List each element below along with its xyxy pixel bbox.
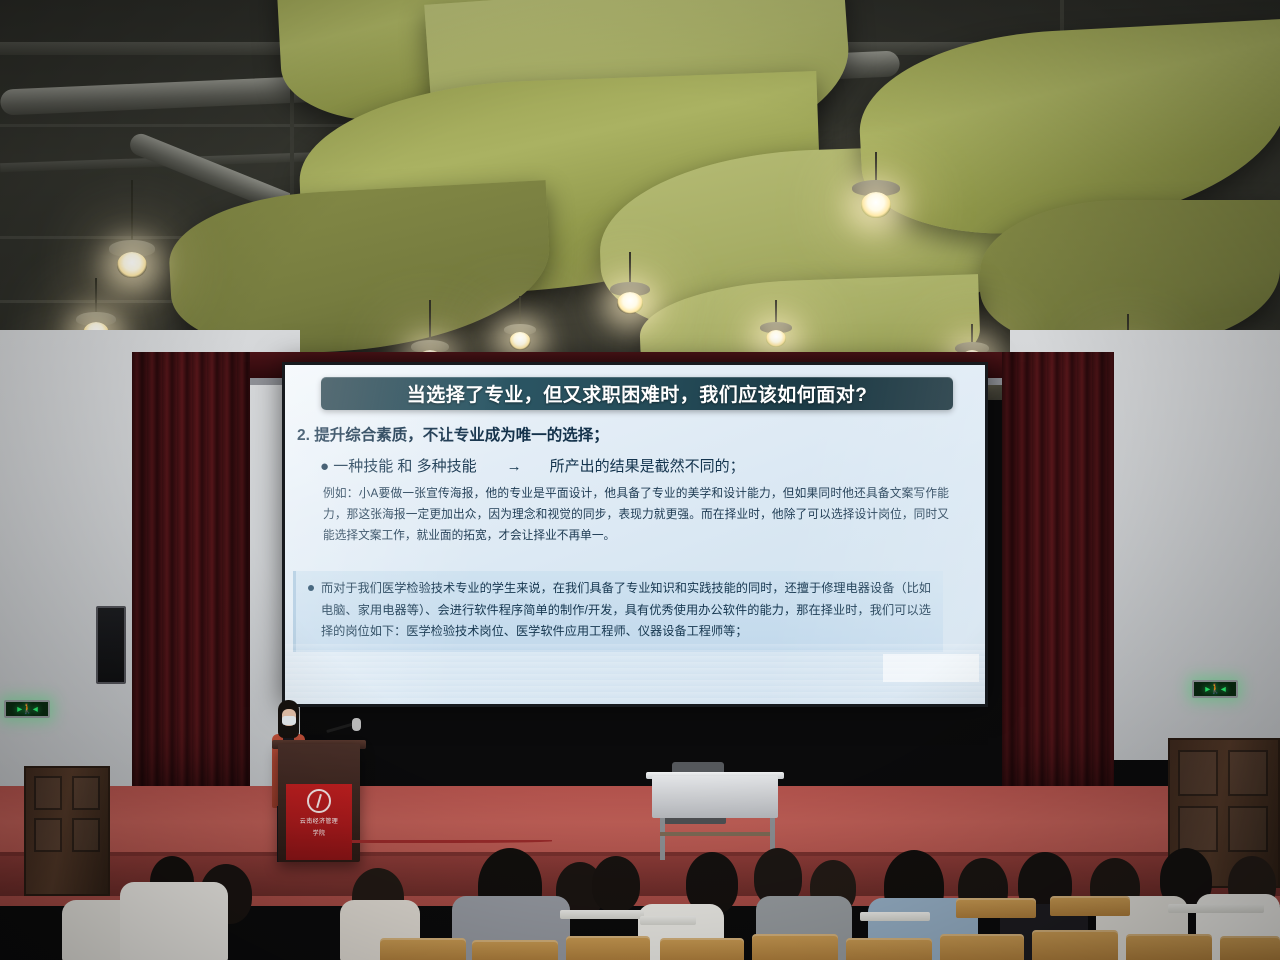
audience [0,838,1280,960]
auditorium-seat[interactable] [472,940,558,960]
auditorium-seat[interactable] [1032,930,1118,960]
auditorium-seat[interactable] [846,938,932,960]
exit-sign-right-icon: ▸🚶◂ [1192,680,1238,698]
audience-member [120,882,228,960]
projection-screen: 当选择了专业，但又求职困难时，我们应该如何面对? 2. 提升综合素质，不让专业成… [282,362,988,707]
auditorium-seat[interactable] [566,936,650,960]
audience-desk [640,916,696,925]
podium-banner-line2: 学院 [313,828,326,837]
exit-glyph-left: ▸🚶◂ [17,704,37,715]
bullet-dot-icon [308,585,314,591]
projector-scanlines [285,644,985,704]
podium-banner-line1: 云南经济管理 [300,816,338,825]
stage-curtain-right [1002,352,1114,822]
slide-heading: 2. 提升综合素质，不让专业成为唯一的选择； [297,423,609,445]
audience-desk [1168,904,1264,913]
slide-highlight-paragraph: 而对于我们医学检验技术专业的学生来说，在我们具备了专业知识和实践技能的同时，还擅… [321,578,931,643]
face-mask-icon [282,716,296,725]
slide-title: 当选择了专业，但又求职困难时，我们应该如何面对? [407,380,868,407]
exit-sign-left-icon: ▸🚶◂ [4,700,50,718]
exit-glyph-right: ▸🚶◂ [1205,684,1225,695]
bullet-one-right: 所产出的结果是截然不同的； [550,458,745,475]
bullet-one-arrow: → [507,458,522,475]
school-seal-icon [307,789,331,813]
audience-desk [560,910,644,919]
auditorium-seat[interactable] [1126,934,1212,960]
bullet-one-left: 一种技能 和 多种技能 [333,458,476,475]
audience-member [592,856,640,912]
slide-bullet-one: ● 一种技能 和 多种技能→所产出的结果是截然不同的； [320,455,745,476]
slide-example-paragraph: 例如：小A要做一张宣传海报，他的专业是平面设计，他具备了专业的美学和设计能力，但… [323,483,949,546]
presentation-slide: 当选择了专业，但又求职困难时，我们应该如何面对? 2. 提升综合素质，不让专业成… [285,365,985,704]
auditorium-seat[interactable] [660,938,744,960]
slide-highlight-box: 而对于我们医学检验技术专业的学生来说，在我们具备了专业知识和实践技能的同时，还擅… [293,571,943,652]
auditorium-seat[interactable] [956,898,1036,918]
audience-desk [860,912,930,921]
stage-curtain-left [132,352,250,822]
microphone-head-icon [352,718,361,731]
stage-table [652,776,778,818]
auditorium-seat[interactable] [1220,936,1280,960]
auditorium-seat[interactable] [380,938,466,960]
wall-speaker [96,606,126,684]
auditorium-photo: 当选择了专业，但又求职困难时，我们应该如何面对? 2. 提升综合素质，不让专业成… [0,0,1280,960]
auditorium-seat[interactable] [1050,896,1130,916]
auditorium-seat[interactable] [940,934,1024,960]
slide-corner-highlight [883,654,979,682]
auditorium-seat[interactable] [752,934,838,960]
stage-table-shelf [660,832,770,836]
ceiling-fabric-swag [980,200,1280,350]
slide-title-bar: 当选择了专业，但又求职困难时，我们应该如何面对? [321,377,953,410]
